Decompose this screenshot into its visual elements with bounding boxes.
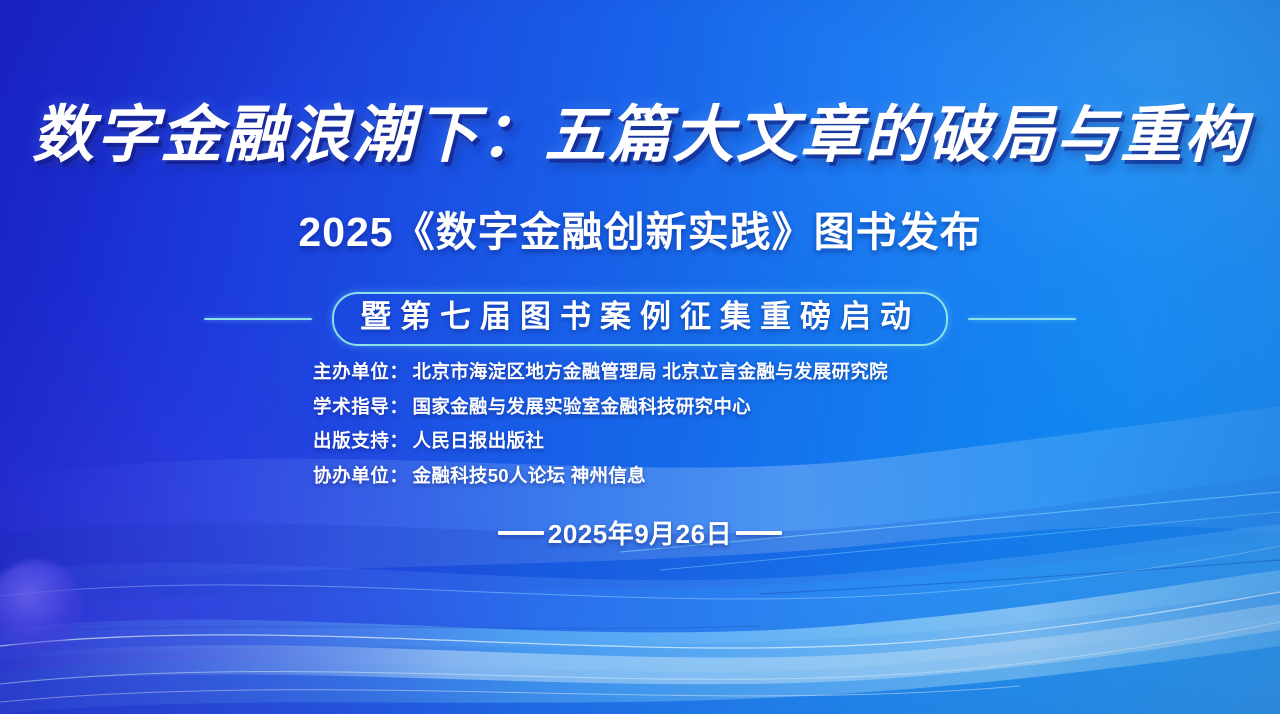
poster-canvas: 数字金融浪潮下：五篇大文章的破局与重构 2025《数字金融创新实践》图书发布 暨… — [0, 0, 1280, 714]
event-date: 2025年9月26日 — [548, 514, 732, 551]
organization-value: 北京市海淀区地方金融管理局 北京立言金融与发展研究院 — [413, 361, 888, 382]
organization-label: 协办单位： — [313, 465, 409, 486]
organization-value: 国家金融与发展实验室金融科技研究中心 — [413, 396, 751, 417]
organization-row: 出版支持：人民日报出版社 — [313, 427, 888, 456]
date-row: 2025年9月26日 — [0, 514, 1280, 551]
date-rule-right — [736, 531, 782, 535]
organization-label: 出版支持： — [313, 430, 409, 451]
page-title: 数字金融浪潮下：五篇大文章的破局与重构 — [0, 104, 1280, 166]
subtitle: 2025《数字金融创新实践》图书发布 — [0, 212, 1280, 253]
organizations-list: 主办单位：北京市海淀区地方金融管理局 北京立言金融与发展研究院 学术指导：国家金… — [313, 358, 888, 491]
organization-label: 主办单位： — [313, 361, 409, 382]
banner-row: 暨第七届图书案例征集重磅启动 — [0, 292, 1280, 346]
organization-value: 人民日报出版社 — [413, 430, 545, 451]
banner-rule-right — [968, 318, 1076, 320]
organization-row: 主办单位：北京市海淀区地方金融管理局 北京立言金融与发展研究院 — [313, 358, 888, 387]
organization-label: 学术指导： — [313, 396, 409, 417]
organization-row: 学术指导：国家金融与发展实验室金融科技研究中心 — [313, 393, 888, 422]
organization-value: 金融科技50人论坛 神州信息 — [413, 465, 646, 486]
organization-row: 协办单位：金融科技50人论坛 神州信息 — [313, 462, 888, 491]
banner-box: 暨第七届图书案例征集重磅启动 — [332, 292, 948, 346]
banner-label: 暨第七届图书案例征集重磅启动 — [360, 299, 920, 334]
date-rule-left — [498, 531, 544, 535]
banner-rule-left — [204, 318, 312, 320]
